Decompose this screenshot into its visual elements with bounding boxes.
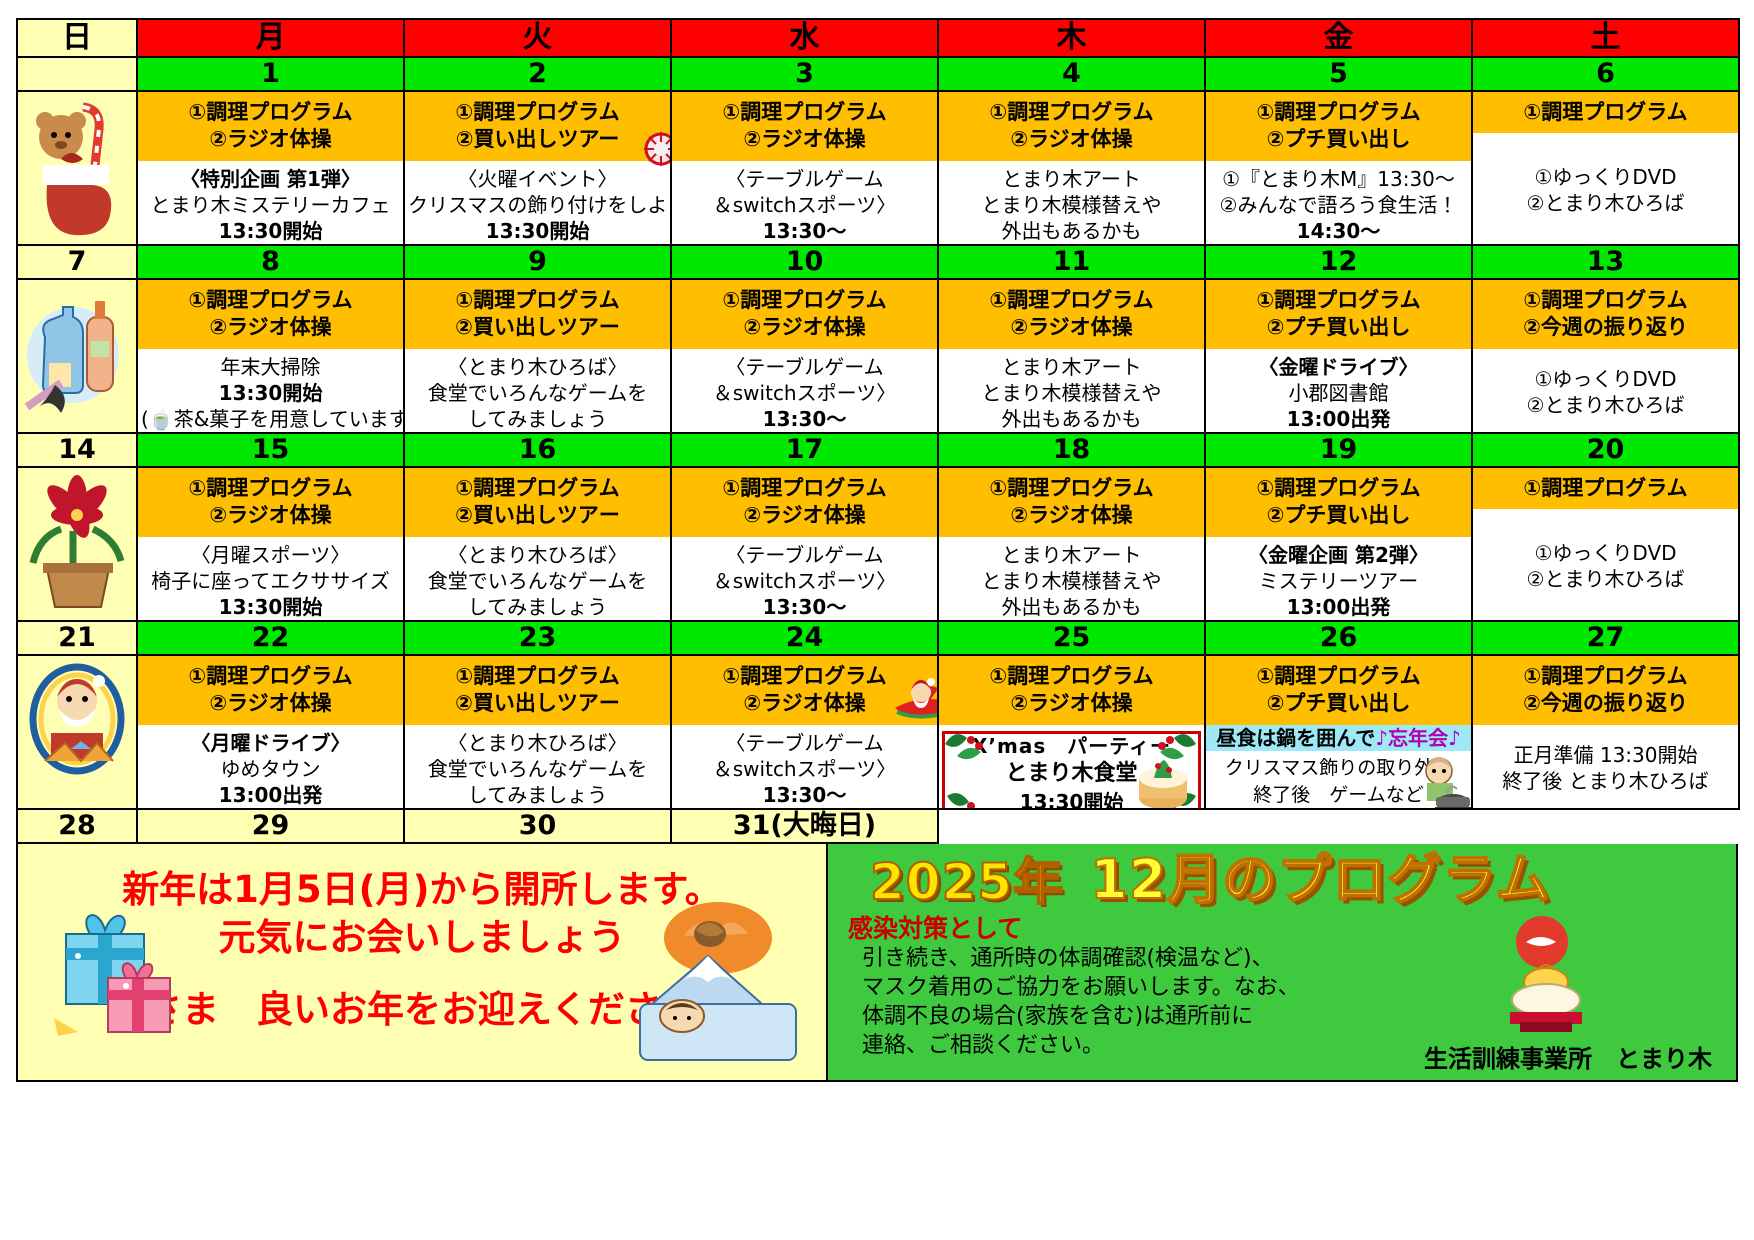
cell-line: 終了後 とまり木ひろば <box>1476 768 1735 794</box>
sunday-date[interactable]: 7 <box>17 245 137 279</box>
program-item: ②ラジオ体操 <box>941 126 1202 153</box>
cell-line: 食堂でいろんなゲームを <box>408 756 667 782</box>
date-cell-17[interactable]: 17 <box>671 433 938 467</box>
program-item: ①調理プログラム <box>407 663 668 690</box>
cell-line: とまり木ミステリーカフェ <box>141 192 400 218</box>
cell-line: ゆめタウン <box>141 756 400 782</box>
cell-detail: とまり木アートとまり木模様替えや外出もあるかも <box>939 161 1204 245</box>
cell-detail: 年末大掃除13:30開始(🍵茶&菓子を用意しています) <box>138 349 403 433</box>
new-year-dream-icon <box>622 896 812 1068</box>
santa-wreath-icon <box>21 657 133 807</box>
day-cell-16[interactable]: ①調理プログラム②買い出しツアー 〈とまり木ひろば〉食堂でいろんなゲームをしてみ… <box>404 467 671 621</box>
day-cell-19[interactable]: ①調理プログラム②プチ買い出し 〈金曜企画 第2弾〉ミステリーツアー13:00出… <box>1205 467 1472 621</box>
cell-line: 正月準備 13:30開始 <box>1476 742 1735 768</box>
cell-line: 〈とまり木ひろば〉 <box>408 542 667 568</box>
program-item: ②ラジオ体操 <box>140 502 401 529</box>
program-item: ②ラジオ体操 <box>674 314 935 341</box>
cell-line: してみましょう <box>408 594 667 620</box>
cell-line: (🍵茶&菓子を用意しています) <box>141 406 400 432</box>
cell-line: ＆switchスポーツ〉 <box>675 568 934 594</box>
day-cell-26[interactable]: ①調理プログラム②プチ買い出し 昼食は鍋を囲んで♪忘年会♪ クリスマス飾りの取り… <box>1205 655 1472 809</box>
cell-line: ②みんなで語ろう食生活！ <box>1209 192 1468 218</box>
program-top: ①調理プログラム <box>1473 468 1738 509</box>
cell-detail: 〈金曜ドライブ〉小郡図書館13:00出発 <box>1206 349 1471 433</box>
sunday-art-cell <box>17 655 137 809</box>
program-item: ①調理プログラム <box>941 475 1202 502</box>
cell-detail: 〈月曜スポーツ〉椅子に座ってエクササイズ13:30開始 <box>138 537 403 621</box>
cell-line: ②とまり木ひろば <box>1476 392 1735 418</box>
day-cell-23[interactable]: ①調理プログラム②買い出しツアー 〈とまり木ひろば〉食堂でいろんなゲームをしてみ… <box>404 655 671 809</box>
cell-line: 食堂でいろんなゲームを <box>408 568 667 594</box>
date-cell-24[interactable]: 24 <box>671 621 938 655</box>
cell-detail: 正月準備 13:30開始終了後 とまり木ひろば <box>1473 725 1738 808</box>
program-top: ①調理プログラム②ラジオ体操 <box>672 280 937 349</box>
program-item: ②ラジオ体操 <box>941 502 1202 529</box>
content-row: ①調理プログラム②ラジオ体操 年末大掃除13:30開始(🍵茶&菓子を用意していま… <box>17 279 1739 433</box>
cell-line: 外出もあるかも <box>942 406 1201 432</box>
cell-line: 13:30開始 <box>141 594 400 620</box>
calendar-table: 日月火水木金土123456 ①調理プログラム②ラジオ体操 〈特別企画 第1弾〉と… <box>16 18 1740 844</box>
cell-line: 小郡図書館 <box>1209 380 1468 406</box>
last-date-30[interactable]: 30 <box>404 809 671 843</box>
program-item: ②プチ買い出し <box>1208 502 1469 529</box>
date-cell-6[interactable]: 6 <box>1472 57 1739 91</box>
cell-line: クリスマスの飾り付けをしよう <box>408 192 667 218</box>
cell-detail: 〈月曜ドライブ〉ゆめタウン13:00出発 <box>138 725 403 809</box>
program-top: ①調理プログラム <box>1473 92 1738 133</box>
date-cell-1[interactable]: 1 <box>137 57 404 91</box>
banner-title: 12月のプログラム <box>1090 850 1551 910</box>
cell-line: 〈テーブルゲーム <box>675 166 934 192</box>
cell-line: ＆switchスポーツ〉 <box>675 192 934 218</box>
cell-line: とまり木模様替えや <box>942 380 1201 406</box>
day-cell-27[interactable]: ①調理プログラム②今週の振り返り 正月準備 13:30開始終了後 とまり木ひろば <box>1472 655 1739 809</box>
program-top: ①調理プログラム②今週の振り返り <box>1473 656 1738 725</box>
kagami-mochi-icon <box>1476 916 1616 1036</box>
bonenkai-banner-b: ♪忘年会♪ <box>1375 726 1461 750</box>
cell-line: 〈特別企画 第1弾〉 <box>141 166 400 192</box>
new-year-message-panel: 新年は1月5日(月)から開所します。 元気にお会いしましょう 皆さま 良いお年を… <box>16 844 828 1082</box>
signature: 生活訓練事業所 とまり木 <box>1424 1039 1712 1074</box>
cell-line: してみましょう <box>408 406 667 432</box>
cell-line: 〈テーブルゲーム <box>675 542 934 568</box>
cell-line: 〈とまり木ひろば〉 <box>408 354 667 380</box>
cell-line: 13:30開始 <box>141 380 400 406</box>
program-item: ②ラジオ体操 <box>140 314 401 341</box>
program-item: ①調理プログラム <box>941 99 1202 126</box>
day-cell-5[interactable]: ①調理プログラム②プチ買い出し ①『とまり木M』13:30〜②みんなで語ろう食生… <box>1205 91 1472 245</box>
program-item: ②今週の振り返り <box>1475 314 1736 341</box>
day-cell-17[interactable]: ①調理プログラム②ラジオ体操 〈テーブルゲーム＆switchスポーツ〉13:30… <box>671 467 938 621</box>
program-item: ②ラジオ体操 <box>674 502 935 529</box>
cell-line: ①ゆっくりDVD <box>1476 164 1735 190</box>
program-item: ①調理プログラム <box>674 99 935 126</box>
program-item: ①調理プログラム <box>140 663 401 690</box>
last-date-31(大晦日)[interactable]: 31(大晦日) <box>671 809 938 843</box>
weekday-2: 火 <box>404 19 671 57</box>
day-cell-25[interactable]: ①調理プログラム②ラジオ体操 <box>938 655 1205 809</box>
cell-line: ①『とまり木M』13:30〜 <box>1209 166 1468 192</box>
program-item: ①調理プログラム <box>407 475 668 502</box>
nabe-cooking-icon <box>1413 753 1471 809</box>
program-top: ①調理プログラム②ラジオ体操 <box>939 656 1204 725</box>
program-item: ①調理プログラム <box>140 475 401 502</box>
day-cell-1[interactable]: ①調理プログラム②ラジオ体操 〈特別企画 第1弾〉とまり木ミステリーカフェ13:… <box>137 91 404 245</box>
cell-detail: 〈テーブルゲーム＆switchスポーツ〉13:30〜 <box>672 725 937 809</box>
program-item: ①調理プログラム <box>1208 287 1469 314</box>
weekday-header-row: 日月火水木金土 <box>17 19 1739 57</box>
xmas-party-container: X’mas パーティー とまり木食堂 13:30開始 <box>939 725 1204 809</box>
cell-detail: 〈火曜イベント〉クリスマスの飾り付けをしよう13:30開始 <box>405 161 670 245</box>
weekday-5: 金 <box>1205 19 1472 57</box>
program-item: ①調理プログラム <box>140 287 401 314</box>
cell-line: 〈火曜イベント〉 <box>408 166 667 192</box>
content-row: ①調理プログラム②ラジオ体操 〈月曜スポーツ〉椅子に座ってエクササイズ13:30… <box>17 467 1739 621</box>
bonenkai-banner: 昼食は鍋を囲んで♪忘年会♪ <box>1206 725 1471 751</box>
date-cell-5[interactable]: 5 <box>1205 57 1472 91</box>
last-date-28[interactable]: 28 <box>17 809 137 843</box>
cell-line: とまり木アート <box>942 166 1201 192</box>
last-date-29[interactable]: 29 <box>137 809 404 843</box>
christmas-stocking-icon <box>21 93 133 243</box>
cell-line: 13:00出発 <box>1209 594 1468 620</box>
cell-detail: 〈金曜企画 第2弾〉ミステリーツアー13:00出発 <box>1206 537 1471 621</box>
cell-line: ②とまり木ひろば <box>1476 190 1735 216</box>
program-item: ②今週の振り返り <box>1475 690 1736 717</box>
weekday-4: 木 <box>938 19 1205 57</box>
program-item: ①調理プログラム <box>1475 475 1736 502</box>
program-top: ①調理プログラム②買い出しツアー <box>405 656 670 725</box>
program-item: ①調理プログラム <box>407 287 668 314</box>
program-top: ①調理プログラム②ラジオ体操 <box>138 280 403 349</box>
weekday-0: 日 <box>17 19 137 57</box>
cell-line: 〈月曜スポーツ〉 <box>141 542 400 568</box>
program-item: ②プチ買い出し <box>1208 314 1469 341</box>
program-top: ①調理プログラム②買い出しツアー <box>405 280 670 349</box>
cell-detail: ①ゆっくりDVD②とまり木ひろば <box>1473 509 1738 620</box>
cell-detail: 〈とまり木ひろば〉食堂でいろんなゲームをしてみましょう <box>405 349 670 433</box>
day-cell-12[interactable]: ①調理プログラム②プチ買い出し 〈金曜ドライブ〉小郡図書館13:00出発 <box>1205 279 1472 433</box>
program-item: ①調理プログラム <box>1475 99 1736 126</box>
cell-detail: 〈特別企画 第1弾〉とまり木ミステリーカフェ13:30開始 <box>138 161 403 245</box>
program-item: ①調理プログラム <box>1475 663 1736 690</box>
cell-detail: 〈テーブルゲーム＆switchスポーツ〉13:30〜 <box>672 349 937 433</box>
cell-line: 〈金曜企画 第2弾〉 <box>1209 542 1468 568</box>
program-top: ①調理プログラム②ラジオ体操 <box>138 92 403 161</box>
cell-line: 13:00出発 <box>141 782 400 808</box>
sunday-art-cell <box>17 279 137 433</box>
cell-detail: 〈とまり木ひろば〉食堂でいろんなゲームをしてみましょう <box>405 537 670 621</box>
cell-line: 椅子に座ってエクササイズ <box>141 568 400 594</box>
program-item: ①調理プログラム <box>674 475 935 502</box>
program-top: ①調理プログラム②ラジオ体操 <box>939 92 1204 161</box>
day-cell-2[interactable]: ①調理プログラム②買い出しツアー 〈火曜イベント〉クリスマスの飾り付けをしよう1… <box>404 91 671 245</box>
cell-line: 13:30〜 <box>675 406 934 432</box>
cell-line: 13:30〜 <box>675 218 934 244</box>
program-top: ①調理プログラム②ラジオ体操 <box>138 468 403 537</box>
date-cell-9[interactable]: 9 <box>404 245 671 279</box>
date-cell-10[interactable]: 10 <box>671 245 938 279</box>
date-cell-18[interactable]: 18 <box>938 433 1205 467</box>
cell-line: 〈テーブルゲーム <box>675 354 934 380</box>
day-cell-4[interactable]: ①調理プログラム②ラジオ体操 とまり木アートとまり木模様替えや外出もあるかも <box>938 91 1205 245</box>
sunday-date[interactable]: 21 <box>17 621 137 655</box>
cell-line: 13:30〜 <box>675 594 934 620</box>
cell-detail: とまり木アートとまり木模様替えや外出もあるかも <box>939 537 1204 621</box>
sunday-art-cell <box>17 467 137 621</box>
cell-detail: 〈テーブルゲーム＆switchスポーツ〉13:30〜 <box>672 161 937 245</box>
date-cell-11[interactable]: 11 <box>938 245 1205 279</box>
program-item: ①調理プログラム <box>1475 287 1736 314</box>
program-item: ①調理プログラム <box>1208 99 1469 126</box>
program-item: ①調理プログラム <box>140 99 401 126</box>
day-cell-8[interactable]: ①調理プログラム②ラジオ体操 年末大掃除13:30開始(🍵茶&菓子を用意していま… <box>137 279 404 433</box>
day-cell-20[interactable]: ①調理プログラム ①ゆっくりDVD②とまり木ひろば <box>1472 467 1739 621</box>
program-top: ①調理プログラム②ラジオ体操 <box>672 92 937 161</box>
day-cell-22[interactable]: ①調理プログラム②ラジオ体操 〈月曜ドライブ〉ゆめタウン13:00出発 <box>137 655 404 809</box>
day-cell-6[interactable]: ①調理プログラム ①ゆっくりDVD②とまり木ひろば <box>1472 91 1739 245</box>
date-cell-16[interactable]: 16 <box>404 433 671 467</box>
holly-icon <box>939 726 989 766</box>
program-top: ①調理プログラム②ラジオ体操 <box>939 280 1204 349</box>
cell-line: 14:30〜 <box>1209 218 1468 244</box>
program-top: ①調理プログラム②プチ買い出し <box>1206 468 1471 537</box>
program-item: ②ラジオ体操 <box>674 126 935 153</box>
program-item: ②買い出しツアー <box>407 126 668 153</box>
cell-detail: とまり木アートとまり木模様替えや外出もあるかも <box>939 349 1204 433</box>
day-cell-15[interactable]: ①調理プログラム②ラジオ体操 〈月曜スポーツ〉椅子に座ってエクササイズ13:30… <box>137 467 404 621</box>
date-cell-15[interactable]: 15 <box>137 433 404 467</box>
cell-line: とまり木模様替えや <box>942 192 1201 218</box>
cell-line: ミステリーツアー <box>1209 568 1468 594</box>
bonenkai-container: 昼食は鍋を囲んで♪忘年会♪ クリスマス飾りの取り外し 終了後 ゲームなど <box>1206 725 1471 809</box>
program-top: ①調理プログラム②プチ買い出し <box>1206 656 1471 725</box>
program-item: ②ラジオ体操 <box>140 126 401 153</box>
sunday-date[interactable] <box>17 57 137 91</box>
day-cell-11[interactable]: ①調理プログラム②ラジオ体操 とまり木アートとまり木模様替えや外出もあるかも <box>938 279 1205 433</box>
date-row: 78910111213 <box>17 245 1739 279</box>
cell-line: 〈テーブルゲーム <box>675 730 934 756</box>
cell-line: 〈金曜ドライブ〉 <box>1209 354 1468 380</box>
cell-line: とまり木模様替えや <box>942 568 1201 594</box>
program-item: ②ラジオ体操 <box>941 690 1202 717</box>
cell-line: してみましょう <box>408 782 667 808</box>
date-cell-2[interactable]: 2 <box>404 57 671 91</box>
date-cell-20[interactable]: 20 <box>1472 433 1739 467</box>
program-item: ②買い出しツアー <box>407 314 668 341</box>
gift-boxes-icon <box>48 886 188 1036</box>
cell-line: ②とまり木ひろば <box>1476 566 1735 592</box>
program-item: ①調理プログラム <box>941 663 1202 690</box>
banner-year: 2025年 <box>870 854 1064 910</box>
date-row: 14151617181920 <box>17 433 1739 467</box>
poinsettia-icon <box>21 469 133 619</box>
cell-line: ＆switchスポーツ〉 <box>675 380 934 406</box>
date-cell-3[interactable]: 3 <box>671 57 938 91</box>
cell-line: 〈月曜ドライブ〉 <box>141 730 400 756</box>
banner-title-row: 2025年 12月のプログラム <box>828 844 1736 910</box>
date-cell-8[interactable]: 8 <box>137 245 404 279</box>
calendar-page: 日月火水木金土123456 ①調理プログラム②ラジオ体操 〈特別企画 第1弾〉と… <box>0 0 1754 1240</box>
program-banner: 2025年 12月のプログラム 感染対策として 引き続き、通所時の体調確認(検温… <box>828 844 1738 1082</box>
program-item: ①調理プログラム <box>407 99 668 126</box>
program-item: ①調理プログラム <box>1208 663 1469 690</box>
program-item: ②買い出しツアー <box>407 690 668 717</box>
bottom-area: 新年は1月5日(月)から開所します。 元気にお会いしましょう 皆さま 良いお年を… <box>16 844 1738 1082</box>
program-top: ①調理プログラム②ラジオ体操 <box>672 468 937 537</box>
cleaning-supplies-icon <box>21 281 133 431</box>
santa-airplane-icon <box>891 672 938 728</box>
cell-line: 〈とまり木ひろば〉 <box>408 730 667 756</box>
christmas-cake-icon <box>1136 748 1190 809</box>
program-item: ①調理プログラム <box>941 287 1202 314</box>
date-cell-25[interactable]: 25 <box>938 621 1205 655</box>
cell-line: 外出もあるかも <box>942 594 1201 620</box>
date-cell-12[interactable]: 12 <box>1205 245 1472 279</box>
cell-detail: ①『とまり木M』13:30〜②みんなで語ろう食生活！14:30〜 <box>1206 161 1471 245</box>
date-row: 21222324252627 <box>17 621 1739 655</box>
program-top: ①調理プログラム②買い出しツアー <box>405 468 670 537</box>
program-top: ①調理プログラム②ラジオ体操 <box>939 468 1204 537</box>
cell-detail: 〈テーブルゲーム＆switchスポーツ〉13:30〜 <box>672 537 937 621</box>
program-item: ①調理プログラム <box>1208 475 1469 502</box>
cell-detail: 〈とまり木ひろば〉食堂でいろんなゲームをしてみましょう <box>405 725 670 809</box>
day-cell-9[interactable]: ①調理プログラム②買い出しツアー 〈とまり木ひろば〉食堂でいろんなゲームをしてみ… <box>404 279 671 433</box>
weekday-1: 月 <box>137 19 404 57</box>
date-cell-13[interactable]: 13 <box>1472 245 1739 279</box>
sunday-date[interactable]: 14 <box>17 433 137 467</box>
date-row: 123456 <box>17 57 1739 91</box>
last-date-row: 28293031(大晦日) <box>17 809 1739 843</box>
program-top: ①調理プログラム②今週の振り返り <box>1473 280 1738 349</box>
program-top: ①調理プログラム②買い出しツアー <box>405 92 670 161</box>
content-row: ①調理プログラム②ラジオ体操 〈月曜ドライブ〉ゆめタウン13:00出発 ①調理プ… <box>17 655 1739 809</box>
date-cell-19[interactable]: 19 <box>1205 433 1472 467</box>
cell-line: 外出もあるかも <box>942 218 1201 244</box>
bonenkai-banner-a: 昼食は鍋を囲んで <box>1216 726 1375 750</box>
program-top: ①調理プログラム②ラジオ体操 <box>138 656 403 725</box>
program-item: ②ラジオ体操 <box>941 314 1202 341</box>
date-cell-26[interactable]: 26 <box>1205 621 1472 655</box>
weekday-3: 水 <box>671 19 938 57</box>
date-cell-22[interactable]: 22 <box>137 621 404 655</box>
cell-line: ①ゆっくりDVD <box>1476 540 1735 566</box>
date-cell-27[interactable]: 27 <box>1472 621 1739 655</box>
program-top: ①調理プログラム②プチ買い出し <box>1206 280 1471 349</box>
day-cell-24[interactable]: ①調理プログラム②ラジオ体操 〈テーブルゲーム＆switchスポーツ〉13:30… <box>671 655 938 809</box>
cell-line: 13:30開始 <box>141 218 400 244</box>
holly-icon <box>941 784 987 809</box>
day-cell-3[interactable]: ①調理プログラム②ラジオ体操 〈テーブルゲーム＆switchスポーツ〉13:30… <box>671 91 938 245</box>
cell-line: 年末大掃除 <box>141 354 400 380</box>
program-item: ②買い出しツアー <box>407 502 668 529</box>
cell-line: 食堂でいろんなゲームを <box>408 380 667 406</box>
date-cell-4[interactable]: 4 <box>938 57 1205 91</box>
day-cell-18[interactable]: ①調理プログラム②ラジオ体操 とまり木アートとまり木模様替えや外出もあるかも <box>938 467 1205 621</box>
cell-line: 13:30開始 <box>408 218 667 244</box>
content-row: ①調理プログラム②ラジオ体操 〈特別企画 第1弾〉とまり木ミステリーカフェ13:… <box>17 91 1739 245</box>
xmas-party-box: X’mas パーティー とまり木食堂 13:30開始 <box>942 731 1201 809</box>
program-item: ②ラジオ体操 <box>140 690 401 717</box>
cell-detail: ①ゆっくりDVD②とまり木ひろば <box>1473 349 1738 432</box>
snowflake-ornament-icon <box>638 126 671 172</box>
sunday-art-cell <box>17 91 137 245</box>
date-cell-23[interactable]: 23 <box>404 621 671 655</box>
day-cell-10[interactable]: ①調理プログラム②ラジオ体操 〈テーブルゲーム＆switchスポーツ〉13:30… <box>671 279 938 433</box>
cell-line: 13:30〜 <box>675 782 934 808</box>
program-top: ①調理プログラム②プチ買い出し <box>1206 92 1471 161</box>
weekday-6: 土 <box>1472 19 1739 57</box>
cell-line: 13:00出発 <box>1209 406 1468 432</box>
program-item: ②プチ買い出し <box>1208 126 1469 153</box>
cell-line: ①ゆっくりDVD <box>1476 366 1735 392</box>
cell-detail: ①ゆっくりDVD②とまり木ひろば <box>1473 133 1738 244</box>
cell-line: とまり木アート <box>942 354 1201 380</box>
cell-line: ＆switchスポーツ〉 <box>675 756 934 782</box>
program-item: ①調理プログラム <box>674 287 935 314</box>
cell-line: とまり木アート <box>942 542 1201 568</box>
day-cell-13[interactable]: ①調理プログラム②今週の振り返り ①ゆっくりDVD②とまり木ひろば <box>1472 279 1739 433</box>
program-item: ②プチ買い出し <box>1208 690 1469 717</box>
